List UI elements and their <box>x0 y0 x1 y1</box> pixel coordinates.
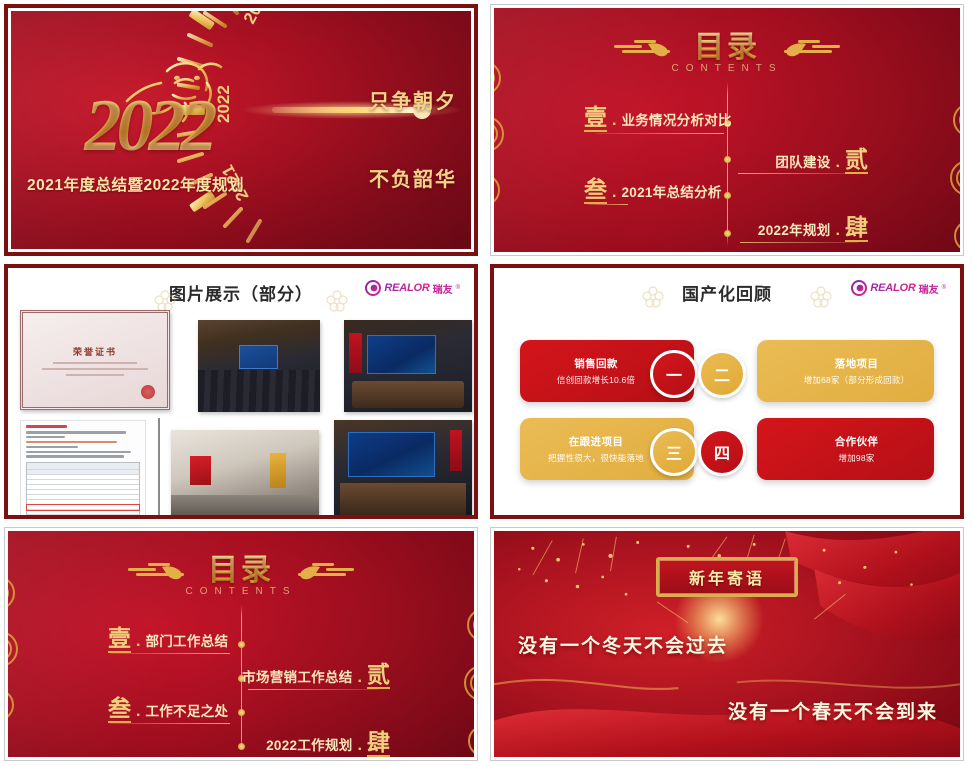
conference-table <box>340 483 467 515</box>
toc-item-dot: . <box>836 222 840 240</box>
toc-item-number: 叁 <box>108 697 131 723</box>
doc-table <box>26 462 140 515</box>
conference-table <box>352 381 465 409</box>
slide-frame-5: 目录 CONTENTS 壹 . 部门工作总结 市场营销工作总结 <box>4 527 478 761</box>
slide-deck-grid: 2023 2022 2021 <box>0 0 972 765</box>
toc-subtitle: CONTENTS <box>8 586 474 597</box>
realor-spiral-icon <box>851 280 867 296</box>
cover-phrase-top: 只争朝夕 <box>369 85 457 114</box>
toc-header: 目录 CONTENTS <box>8 545 474 597</box>
card-desc: 信创回款增长10.6倍 <box>557 374 635 386</box>
toc-item-number: 壹 <box>584 106 607 132</box>
new-year-line-2: 没有一个春天不会到来 <box>728 697 938 724</box>
toc-item-label: 市场营销工作总结 <box>242 666 352 686</box>
review-card-row-1: 销售回款 信创回款增长10.6倍 一 落地项目 增加68家（部分形成回款） 二 <box>520 340 934 402</box>
certificate-line <box>53 362 137 364</box>
cloud-ornament-right-icon <box>780 38 842 60</box>
new-year-plaque-label: 新年寄语 <box>689 571 765 588</box>
realor-wordmark: REALOR <box>870 282 915 294</box>
cover-title: 2021年度总结暨2022年度规划 <box>27 173 317 195</box>
review-card-badge-4: 四 <box>698 428 746 476</box>
slide-cell-6[interactable]: 新年寄语 没有一个冬天不会过去 没有一个春天不会到来 <box>486 523 972 765</box>
doc-text-line <box>26 451 131 454</box>
review-card-badge-1: 一 <box>650 350 698 398</box>
toc-rule-2 <box>738 173 858 174</box>
audience-seating <box>198 370 320 412</box>
gallery-divider <box>158 418 160 515</box>
toc-item-4[interactable]: 2022年规划 . 肆 <box>758 216 868 242</box>
review-card-badge-2: 二 <box>698 350 746 398</box>
review-card-4[interactable]: 合作伙伴 增加98家 <box>757 418 934 480</box>
slide-6-new-year-message: 新年寄语 没有一个冬天不会过去 没有一个春天不会到来 <box>494 531 960 757</box>
card-title: 销售回款 <box>574 356 618 371</box>
realor-cn: 瑞友 <box>919 281 939 296</box>
axis-dot <box>724 230 731 237</box>
card-title: 落地项目 <box>835 356 879 371</box>
realor-tm: ® <box>942 285 946 291</box>
svg-text:2023: 2023 <box>240 11 275 27</box>
photo-grid: 荣誉证书 <box>8 268 474 515</box>
certificate-line <box>42 368 149 370</box>
mandala-ornament-right-icon <box>440 583 474 753</box>
doc-text-line <box>26 455 124 458</box>
projector-screen <box>239 345 278 369</box>
new-year-background: 新年寄语 没有一个冬天不会过去 没有一个春天不会到来 <box>494 531 960 757</box>
toc-title: 目录 <box>208 545 274 589</box>
certificate-line <box>66 374 124 376</box>
certificate-heading: 荣誉证书 <box>73 345 117 358</box>
plum-blossom-ornament-icon <box>642 286 664 308</box>
realor-logo: REALOR 瑞友 ® <box>851 280 946 296</box>
card-desc: 增加98家 <box>839 452 875 464</box>
doc-table-row <box>27 510 139 515</box>
doc-text-line <box>26 431 126 434</box>
toc-item-dot: . <box>136 703 140 721</box>
slide-1-cover: 2023 2022 2021 <box>11 11 471 249</box>
toc-header: 目录 CONTENTS <box>494 22 960 74</box>
toc-item-number: 肆 <box>845 216 868 242</box>
plum-blossom-ornament-icon <box>810 286 832 308</box>
toc-rule-3 <box>588 204 628 205</box>
axis-dot <box>238 641 245 648</box>
toc-item-number: 贰 <box>367 663 390 689</box>
toc-item-2[interactable]: 团队建设 . 贰 <box>775 148 868 174</box>
cloud-ornament-right-icon <box>294 561 356 583</box>
toc-item-3[interactable]: 叁 . 工作不足之处 <box>108 697 228 723</box>
toc-item-4[interactable]: 2022工作规划 . 肆 <box>266 731 390 757</box>
toc-title: 目录 <box>694 22 760 66</box>
photo-project-document[interactable] <box>20 420 146 515</box>
toc-item-label: 业务情况分析对比 <box>621 109 731 129</box>
photo-showroom-lobby[interactable] <box>171 430 319 515</box>
mandala-ornament-right-icon <box>926 78 960 248</box>
toc-item-dot: . <box>836 154 840 172</box>
toc-item-1[interactable]: 壹 . 部门工作总结 <box>108 627 228 653</box>
flag <box>349 333 362 373</box>
lobby-floor <box>171 495 319 515</box>
review-card-2[interactable]: 落地项目 增加68家（部分形成回款） <box>757 340 934 402</box>
doc-text-line <box>26 441 117 444</box>
slide-cell-3[interactable]: 图片展示（部分） <box>0 260 486 523</box>
review-card-grid: 销售回款 信创回款增长10.6倍 一 落地项目 增加68家（部分形成回款） 二 … <box>520 340 934 496</box>
slide-4-localization-review: 国产化回顾 <box>494 268 960 515</box>
card-desc: 把握性很大，很快能落地 <box>548 452 644 464</box>
toc-rule-3 <box>110 723 230 724</box>
photo-award-certificate[interactable]: 荣誉证书 <box>20 310 170 410</box>
slide-cell-2[interactable]: 目录 CONTENTS 壹 . 业务情况分析对比 团队建设 <box>486 0 972 260</box>
toc-item-3[interactable]: 叁 . 2021年总结分析 <box>584 178 722 204</box>
presentation-screen <box>348 432 436 477</box>
slide-3-photo-gallery: 图片展示（部分） <box>8 268 474 515</box>
cloud-ornament-left-icon <box>612 38 674 60</box>
new-year-line-1: 没有一个冬天不会过去 <box>518 631 728 658</box>
photo-boardroom-presentation[interactable] <box>334 420 472 515</box>
toc-item-label: 工作不足之处 <box>145 700 228 720</box>
doc-table-header <box>27 463 139 470</box>
new-year-plaque: 新年寄语 <box>656 557 798 597</box>
flag <box>450 430 462 471</box>
toc-item-number: 叁 <box>584 178 607 204</box>
slide-cell-5[interactable]: 目录 CONTENTS 壹 . 部门工作总结 市场营销工作总结 <box>0 523 486 765</box>
review-card-row-2: 在跟进项目 把握性很大，很快能落地 三 合作伙伴 增加98家 四 <box>520 418 934 480</box>
axis-dot <box>238 709 245 716</box>
gold-display-panel <box>270 453 286 488</box>
toc-rule-1 <box>596 133 724 134</box>
slide-frame-2: 目录 CONTENTS 壹 . 业务情况分析对比 团队建设 <box>490 4 964 256</box>
toc-rule-2 <box>248 689 378 690</box>
red-display-panel <box>190 456 211 484</box>
cover-phrase-bottom: 不负韶华 <box>369 163 457 192</box>
presentation-screen <box>367 335 436 374</box>
cloud-ornament-left-icon <box>126 561 188 583</box>
photo-signing-meeting-room[interactable] <box>344 320 472 412</box>
toc-item-1[interactable]: 壹 . 业务情况分析对比 <box>584 106 732 132</box>
toc-item-dot: . <box>612 184 616 202</box>
toc-item-label: 团队建设 <box>775 151 830 171</box>
card-desc: 增加68家（部分形成回款） <box>804 374 910 386</box>
slide-frame-4: 国产化回顾 <box>490 264 964 519</box>
axis-dot <box>238 743 245 750</box>
slide-frame-3: 图片展示（部分） <box>4 264 478 519</box>
axis-dot <box>724 156 731 163</box>
card-title: 合作伙伴 <box>835 434 879 449</box>
toc-rule-1 <box>110 653 230 654</box>
axis-dot <box>724 192 731 199</box>
toc-item-dot: . <box>612 112 616 130</box>
toc-item-2[interactable]: 市场营销工作总结 . 贰 <box>242 663 390 689</box>
slide-frame-1: 2023 2022 2021 <box>4 4 478 256</box>
doc-text-line <box>26 446 78 449</box>
slide-2-contents: 目录 CONTENTS 壹 . 业务情况分析对比 团队建设 <box>494 8 960 252</box>
slide-cell-4[interactable]: 国产化回顾 <box>486 260 972 523</box>
photo-conference-hall-audience[interactable] <box>198 320 320 412</box>
toc-item-label: 2022工作规划 <box>266 734 352 754</box>
toc-item-label: 2022年规划 <box>758 219 831 239</box>
year-art-2022: 2022 <box>41 71 256 181</box>
toc-rule-4 <box>740 242 858 243</box>
toc-item-label: 2021年总结分析 <box>621 181 721 201</box>
toc-item-number: 贰 <box>845 148 868 174</box>
doc-text-line <box>26 436 65 439</box>
certificate-seal-icon <box>141 385 155 399</box>
slide-frame-6: 新年寄语 没有一个冬天不会过去 没有一个春天不会到来 <box>490 527 964 761</box>
doc-header-mark <box>26 425 67 428</box>
toc-item-number: 壹 <box>108 627 131 653</box>
slide-5-contents: 目录 CONTENTS 壹 . 部门工作总结 市场营销工作总结 <box>8 531 474 757</box>
slide-cell-1[interactable]: 2023 2022 2021 <box>0 0 486 260</box>
toc-item-dot: . <box>136 633 140 651</box>
toc-item-label: 部门工作总结 <box>145 630 228 650</box>
toc-item-number: 肆 <box>367 731 390 757</box>
toc-item-dot: . <box>358 669 362 687</box>
review-card-badge-3: 三 <box>650 428 698 476</box>
toc-subtitle: CONTENTS <box>494 63 960 74</box>
card-title: 在跟进项目 <box>569 434 624 449</box>
toc-item-dot: . <box>358 737 362 755</box>
